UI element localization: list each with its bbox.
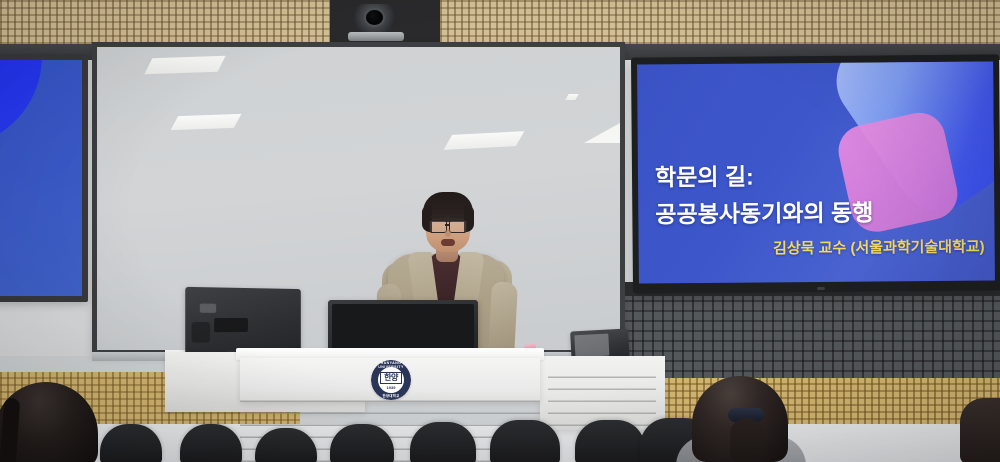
light-reflection: [444, 131, 525, 150]
slide-title-line2: 공공봉사동기와의 동행: [655, 194, 873, 230]
light-reflection: [584, 123, 620, 143]
monitor-podium-screen: [332, 304, 474, 352]
light-reflection: [565, 94, 578, 100]
slide-title-line1: 학문의 길:: [655, 158, 754, 193]
slide-byline: 김상묵 교수 (서울과학기술대학교): [773, 236, 985, 259]
slide-shape-blue: [0, 60, 42, 148]
camera-lens-icon: [366, 10, 383, 25]
dark-acoustic-panel: [612, 296, 1000, 382]
seal-year: 1939: [371, 385, 411, 390]
speaker-mouth: [441, 239, 455, 246]
speaker-nose: [445, 229, 451, 237]
display-right: 학문의 길: 공공봉사동기와의 동행 김상묵 교수 (서울과학기술대학교): [631, 54, 1000, 293]
glasses-bridge-icon: [445, 224, 450, 226]
seal-ring-text-top: HANYANG UNIVERSITY: [371, 361, 411, 369]
ceiling-camera-icon: [354, 4, 396, 34]
acoustic-panel-upper-right: [440, 0, 1000, 44]
display-left: 대학교): [0, 54, 88, 302]
camera-mount: [348, 32, 404, 41]
audience-head-edge: [960, 398, 1000, 462]
ponytail: [730, 418, 764, 462]
university-seal-icon: HANYANG UNIVERSITY 한양대학교 한양 1939: [371, 360, 411, 400]
desk-right-panel-slots: [548, 374, 656, 426]
chair: [410, 422, 476, 462]
seal-center-text: 한양: [380, 372, 402, 384]
glasses-icon: [449, 220, 467, 233]
monitor-left: [185, 287, 301, 355]
monitor-vesa-mount: [214, 318, 248, 332]
lecture-hall-photo: 대학교) 학문의 길: 공공봉사동기와의 동행 김상묵 교수 (서울과학기술대학…: [0, 0, 1000, 462]
monitor-port-housing: [192, 322, 211, 343]
monitor-right-screen: [574, 334, 609, 358]
chair: [490, 420, 560, 462]
acoustic-panel-upper-left: [0, 0, 330, 44]
display-right-screen: 학문의 길: 공공봉사동기와의 동행 김상묵 교수 (서울과학기술대학교): [637, 61, 995, 283]
monitor-brand-logo: [200, 304, 216, 313]
display-power-led-icon: [817, 287, 825, 290]
chair: [575, 420, 645, 462]
seal-ring-text-bottom: 한양대학교: [371, 393, 411, 398]
display-left-screen: 대학교): [0, 60, 82, 296]
light-reflection: [144, 56, 225, 75]
light-reflection: [171, 114, 242, 130]
